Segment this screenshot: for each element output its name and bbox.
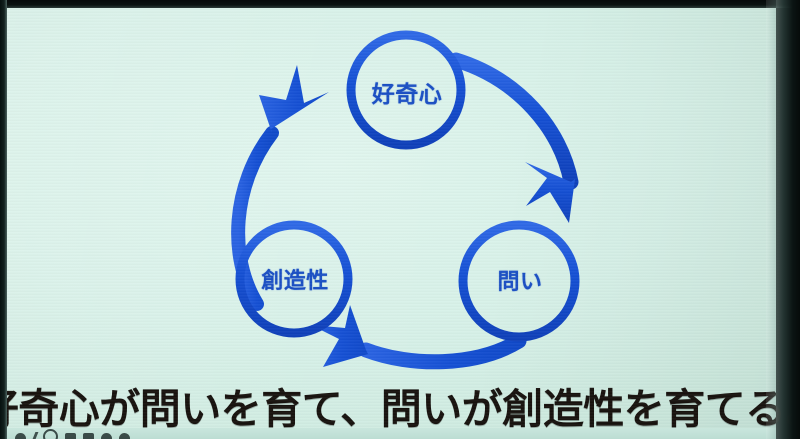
- screen-right-sheen: [766, 0, 776, 439]
- screen-top-bezel: [0, 0, 800, 8]
- folder-icon[interactable]: [101, 433, 112, 439]
- node-label-creativity: 創造性: [240, 263, 350, 295]
- slide-caption: 好奇心が問いを育て、問いが創造性を育てる。: [16, 378, 788, 432]
- arrow-curiosity-to-question: [456, 60, 575, 223]
- taskbar-icon-group[interactable]: [15, 429, 130, 439]
- projected-slide: 好奇心 創造性 問い 好奇心が問いを育て、問いが創造性を育てる。: [6, 7, 776, 439]
- node-label-curiosity: 好奇心: [351, 75, 463, 109]
- list-icon[interactable]: [83, 433, 94, 439]
- window-icon[interactable]: [65, 433, 76, 439]
- dome-icon[interactable]: [15, 433, 26, 439]
- screen-left-bezel: [0, 0, 7, 439]
- arrow-question-to-creativity: [311, 305, 519, 367]
- screen-right-bezel: [776, 0, 800, 439]
- node-label-question: 問い: [464, 264, 576, 296]
- browser-icon[interactable]: [119, 433, 130, 439]
- pencil-icon[interactable]: [31, 432, 39, 439]
- screenshot-root: 好奇心 創造性 問い 好奇心が問いを育て、問いが創造性を育てる。: [0, 0, 800, 439]
- circle-icon[interactable]: [43, 429, 58, 439]
- cycle-diagram: 好奇心 創造性 問い: [6, 7, 800, 377]
- taskbar-sliver: [7, 428, 776, 439]
- cycle-diagram-svg: [6, 7, 800, 377]
